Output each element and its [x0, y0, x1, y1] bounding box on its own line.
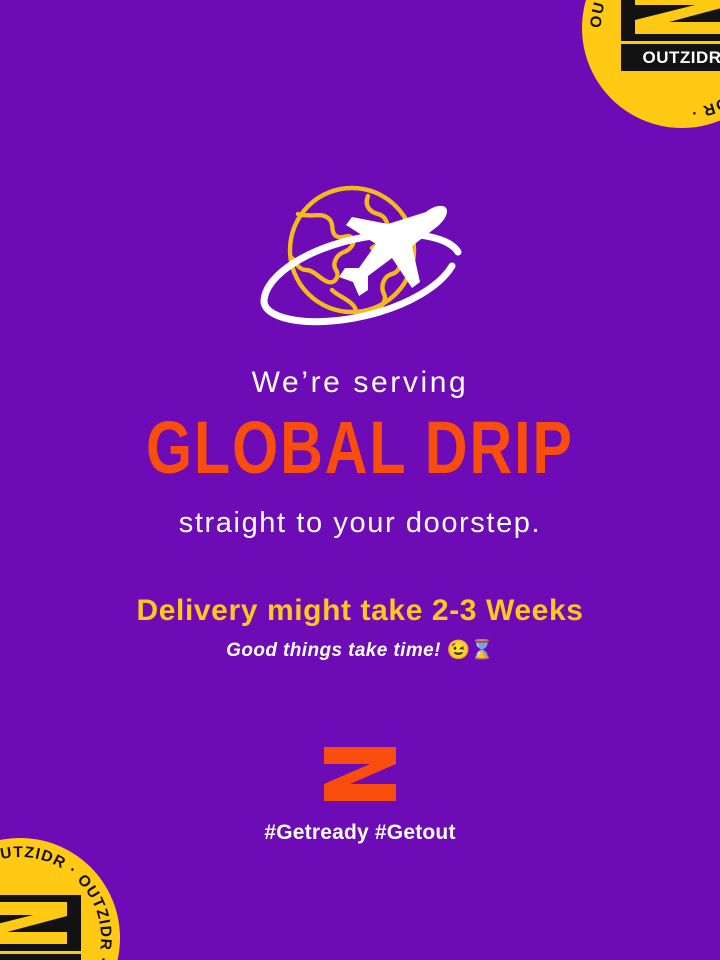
badge-z-icon: [0, 895, 81, 951]
promo-poster: OUTZIDR · OUTZIDR · OUTZIDR · OUTZIDR · …: [0, 0, 720, 960]
badge-wordmark: OUTZIDR: [621, 44, 720, 71]
airplane-icon: [339, 206, 447, 296]
badge-wordmark: OUTZIDR: [0, 954, 81, 960]
badge-core: OUTZIDR: [621, 0, 720, 71]
brand-badge-top-right: OUTZIDR · OUTZIDR · OUTZIDR · OUTZIDR · …: [582, 0, 720, 128]
delivery-tagline: Good things take time! 😉⌛: [0, 641, 720, 662]
brand-badge-bottom-left: OUTZIDR · OUTZIDR · OUTZIDR · OUTZIDR · …: [0, 838, 120, 960]
footer-lockup: #Getready #Getout: [0, 744, 720, 844]
delivery-tagline-text: Good things take time!: [226, 640, 441, 661]
globe-airplane-icon: [240, 178, 480, 338]
hero-kicker: We’re serving: [0, 366, 720, 399]
z-logo: [320, 744, 400, 804]
badge-core: OUTZIDR: [0, 895, 81, 960]
hashtags: #Getready #Getout: [0, 821, 720, 844]
delivery-notice: Delivery might take 2-3 Weeks: [0, 594, 720, 627]
tagline-emoji: 😉⌛: [447, 640, 494, 661]
badge-wordmark-label: OUTZIDR: [642, 49, 720, 66]
hero-illustration: [0, 178, 720, 338]
hero-copy: We’re serving GLOBAL DRIP straight to yo…: [0, 366, 720, 662]
hero-headline: GLOBAL DRIP: [11, 411, 709, 485]
badge-z-icon: [621, 0, 720, 41]
hero-subline: straight to your doorstep.: [0, 508, 720, 540]
